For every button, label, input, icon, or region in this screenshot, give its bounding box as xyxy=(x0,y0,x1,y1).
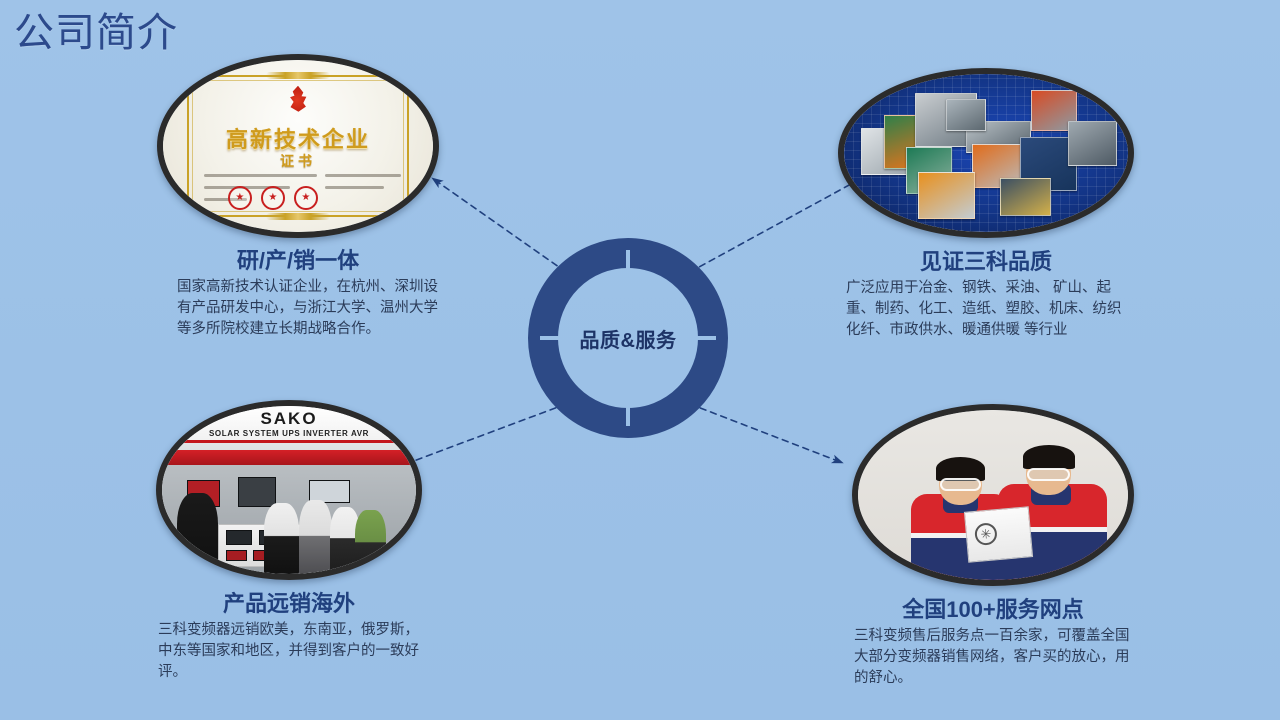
booth-product xyxy=(226,550,246,562)
fan-icon xyxy=(974,522,998,546)
node-service-image xyxy=(852,404,1134,586)
booth-visitor xyxy=(264,503,300,574)
slide-canvas: 公司简介 xyxy=(0,0,1280,720)
certificate-text-line xyxy=(325,186,384,189)
technician-hair xyxy=(1023,445,1075,469)
booth-visitor xyxy=(355,510,385,574)
booth-tagline-label: SOLAR SYSTEM UPS INVERTER AVR xyxy=(162,429,416,438)
certificate-heading: 高新技术企业 xyxy=(163,122,433,154)
certificate-text-line xyxy=(204,174,317,177)
booth-banner: SAKO SOLAR SYSTEM UPS INVERTER AVR xyxy=(162,406,416,443)
seal-icon xyxy=(228,186,252,210)
node-research: 高新技术企业 证书 研/产/销一体 国家高新技术认证企业，在杭州、深圳设有产品研… xyxy=(157,54,439,340)
page-title: 公司简介 xyxy=(14,8,178,58)
booth-brand-label: SAKO xyxy=(162,409,416,429)
certificate-subheading: 证书 xyxy=(163,151,433,171)
safety-glasses-icon xyxy=(940,478,981,491)
technicians-photo xyxy=(858,410,1128,580)
seal-icon xyxy=(294,186,318,210)
node-export: SAKO SOLAR SYSTEM UPS INVERTER AVR xyxy=(156,400,422,683)
node-quality-image xyxy=(838,68,1134,238)
certificate-photo: 高新技术企业 证书 xyxy=(163,60,433,232)
certificate-seals xyxy=(228,186,318,210)
booth-visitor xyxy=(177,493,218,574)
collage-tile xyxy=(1000,178,1051,216)
node-export-image: SAKO SOLAR SYSTEM UPS INVERTER AVR xyxy=(156,400,422,580)
node-service: 全国100+服务网点 三科变频售后服务点一百余家，可覆盖全国大部分变频器销售网络… xyxy=(852,404,1134,689)
trade-show-booth-photo: SAKO SOLAR SYSTEM UPS INVERTER AVR xyxy=(162,406,416,574)
booth-visitor xyxy=(299,500,332,574)
certificate-ornament-bottom xyxy=(266,213,331,220)
node-export-body: 三科变频器远销欧美，东南亚，俄罗斯，中东等国家和地区，并得到客户的一致好评。 xyxy=(156,620,422,683)
booth-product xyxy=(226,530,251,544)
collage-tile xyxy=(918,172,975,219)
certificate-ornament-top xyxy=(266,72,331,79)
industrial-collage-photo xyxy=(844,74,1128,232)
node-quality: 见证三科品质 广泛应用于冶金、钢铁、采油、 矿山、起重、制药、化工、造纸、塑胶、… xyxy=(838,68,1134,341)
collage-tile xyxy=(1068,121,1116,165)
node-service-body: 三科变频售后服务点一百余家，可覆盖全国大部分变频器销售网络，客户买的放心，用的舒… xyxy=(852,626,1134,689)
node-research-body: 国家高新技术认证企业，在杭州、深圳设有产品研发中心，与浙江大学、温州大学等多所院… xyxy=(157,277,439,340)
safety-glasses-icon xyxy=(1027,468,1070,481)
seal-icon xyxy=(261,186,285,210)
booth-red-bar xyxy=(162,450,416,465)
node-service-title: 全国100+服务网点 xyxy=(852,595,1134,625)
node-quality-body: 广泛应用于冶金、钢铁、采油、 矿山、起重、制药、化工、造纸、塑胶、机床、纺织化纤… xyxy=(838,278,1134,341)
node-research-image: 高新技术企业 证书 xyxy=(157,54,439,238)
node-research-title: 研/产/销一体 xyxy=(157,246,439,276)
product-box xyxy=(964,506,1033,562)
node-export-title: 产品远销海外 xyxy=(156,589,422,619)
center-hub: 品质&服务 xyxy=(528,238,728,438)
certificate-text-line xyxy=(325,174,401,177)
hub-label: 品质&服务 xyxy=(528,238,728,438)
node-quality-title: 见证三科品质 xyxy=(838,247,1134,277)
collage-tile xyxy=(946,99,986,131)
booth-product xyxy=(238,477,276,507)
